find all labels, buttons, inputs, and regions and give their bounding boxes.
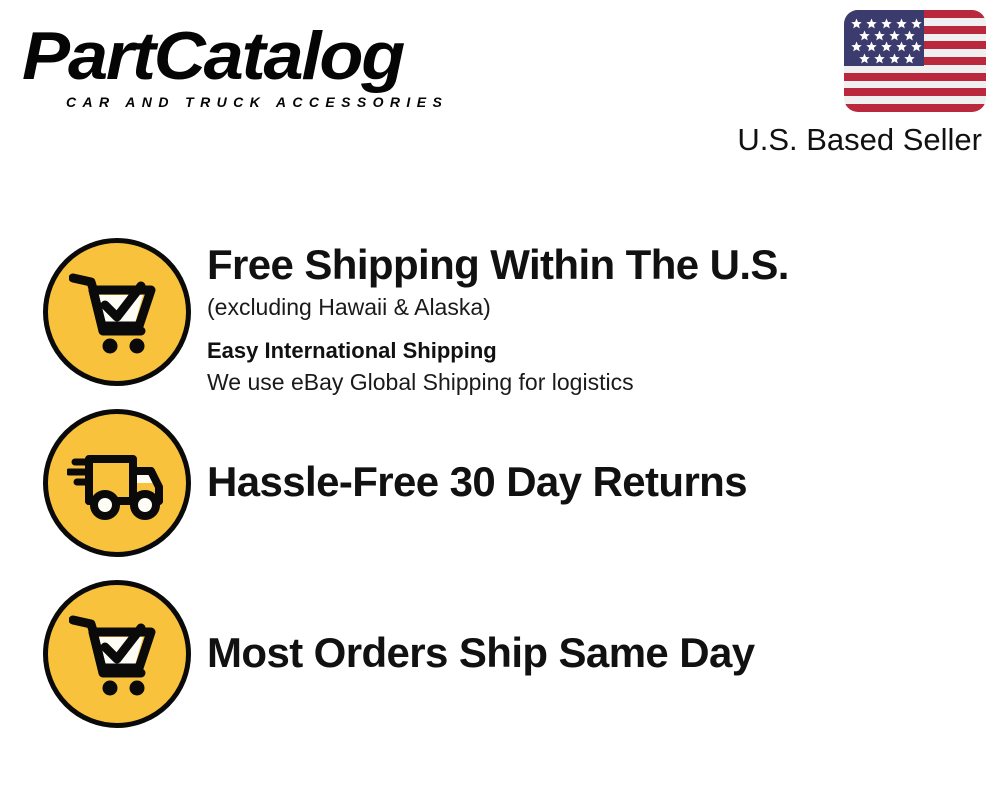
feature-subheading: Easy International Shipping [207, 336, 1000, 366]
flag-star [911, 18, 922, 29]
brand-logo[interactable]: PartCatalog CAR AND TRUCK ACCESSORIES [22, 22, 492, 114]
us-flag-icon [844, 10, 986, 112]
feature-subdetail: We use eBay Global Shipping for logistic… [207, 366, 1000, 398]
flag-star [874, 53, 885, 64]
flag-stripe [844, 73, 986, 81]
feature-subtitle: (excluding Hawaii & Alaska) [207, 290, 1000, 324]
flag-star [866, 18, 877, 29]
flag-star [851, 18, 862, 29]
flag-star [881, 18, 892, 29]
delivery-truck-icon [43, 409, 191, 557]
feature-text-block: Hassle-Free 30 Day Returns [191, 409, 1000, 507]
shopping-cart-check-icon [43, 238, 191, 386]
flag-star [911, 41, 922, 52]
flag-star [889, 30, 900, 41]
flag-star [904, 30, 915, 41]
flag-star [851, 41, 862, 52]
feature-text-block: Most Orders Ship Same Day [191, 580, 1000, 678]
us-based-seller-label: U.S. Based Seller [696, 121, 986, 159]
flag-star [896, 18, 907, 29]
flag-star [889, 53, 900, 64]
page-header: PartCatalog CAR AND TRUCK ACCESSORIES U.… [0, 0, 1000, 170]
flag-star [896, 41, 907, 52]
flag-star [904, 53, 915, 64]
flag-star [859, 30, 870, 41]
brand-tagline: CAR AND TRUCK ACCESSORIES [66, 94, 448, 110]
flag-star [881, 41, 892, 52]
flag-star [859, 53, 870, 64]
shopping-cart-check-icon [43, 580, 191, 728]
flag-stripe [844, 104, 986, 112]
flag-star [874, 30, 885, 41]
flag-stripe [844, 88, 986, 96]
feature-row-free-shipping: Free Shipping Within The U.S. (excluding… [0, 238, 1000, 408]
feature-row-same-day-ship: Most Orders Ship Same Day [0, 580, 1000, 750]
feature-title: Free Shipping Within The U.S. [207, 240, 1000, 290]
feature-title: Hassle-Free 30 Day Returns [207, 457, 1000, 507]
brand-wordmark: PartCatalog [22, 22, 520, 90]
flag-star [866, 41, 877, 52]
feature-text-block: Free Shipping Within The U.S. (excluding… [191, 238, 1000, 398]
us-based-seller-badge: U.S. Based Seller [696, 10, 986, 159]
feature-title: Most Orders Ship Same Day [207, 628, 1000, 678]
feature-row-returns: Hassle-Free 30 Day Returns [0, 409, 1000, 579]
